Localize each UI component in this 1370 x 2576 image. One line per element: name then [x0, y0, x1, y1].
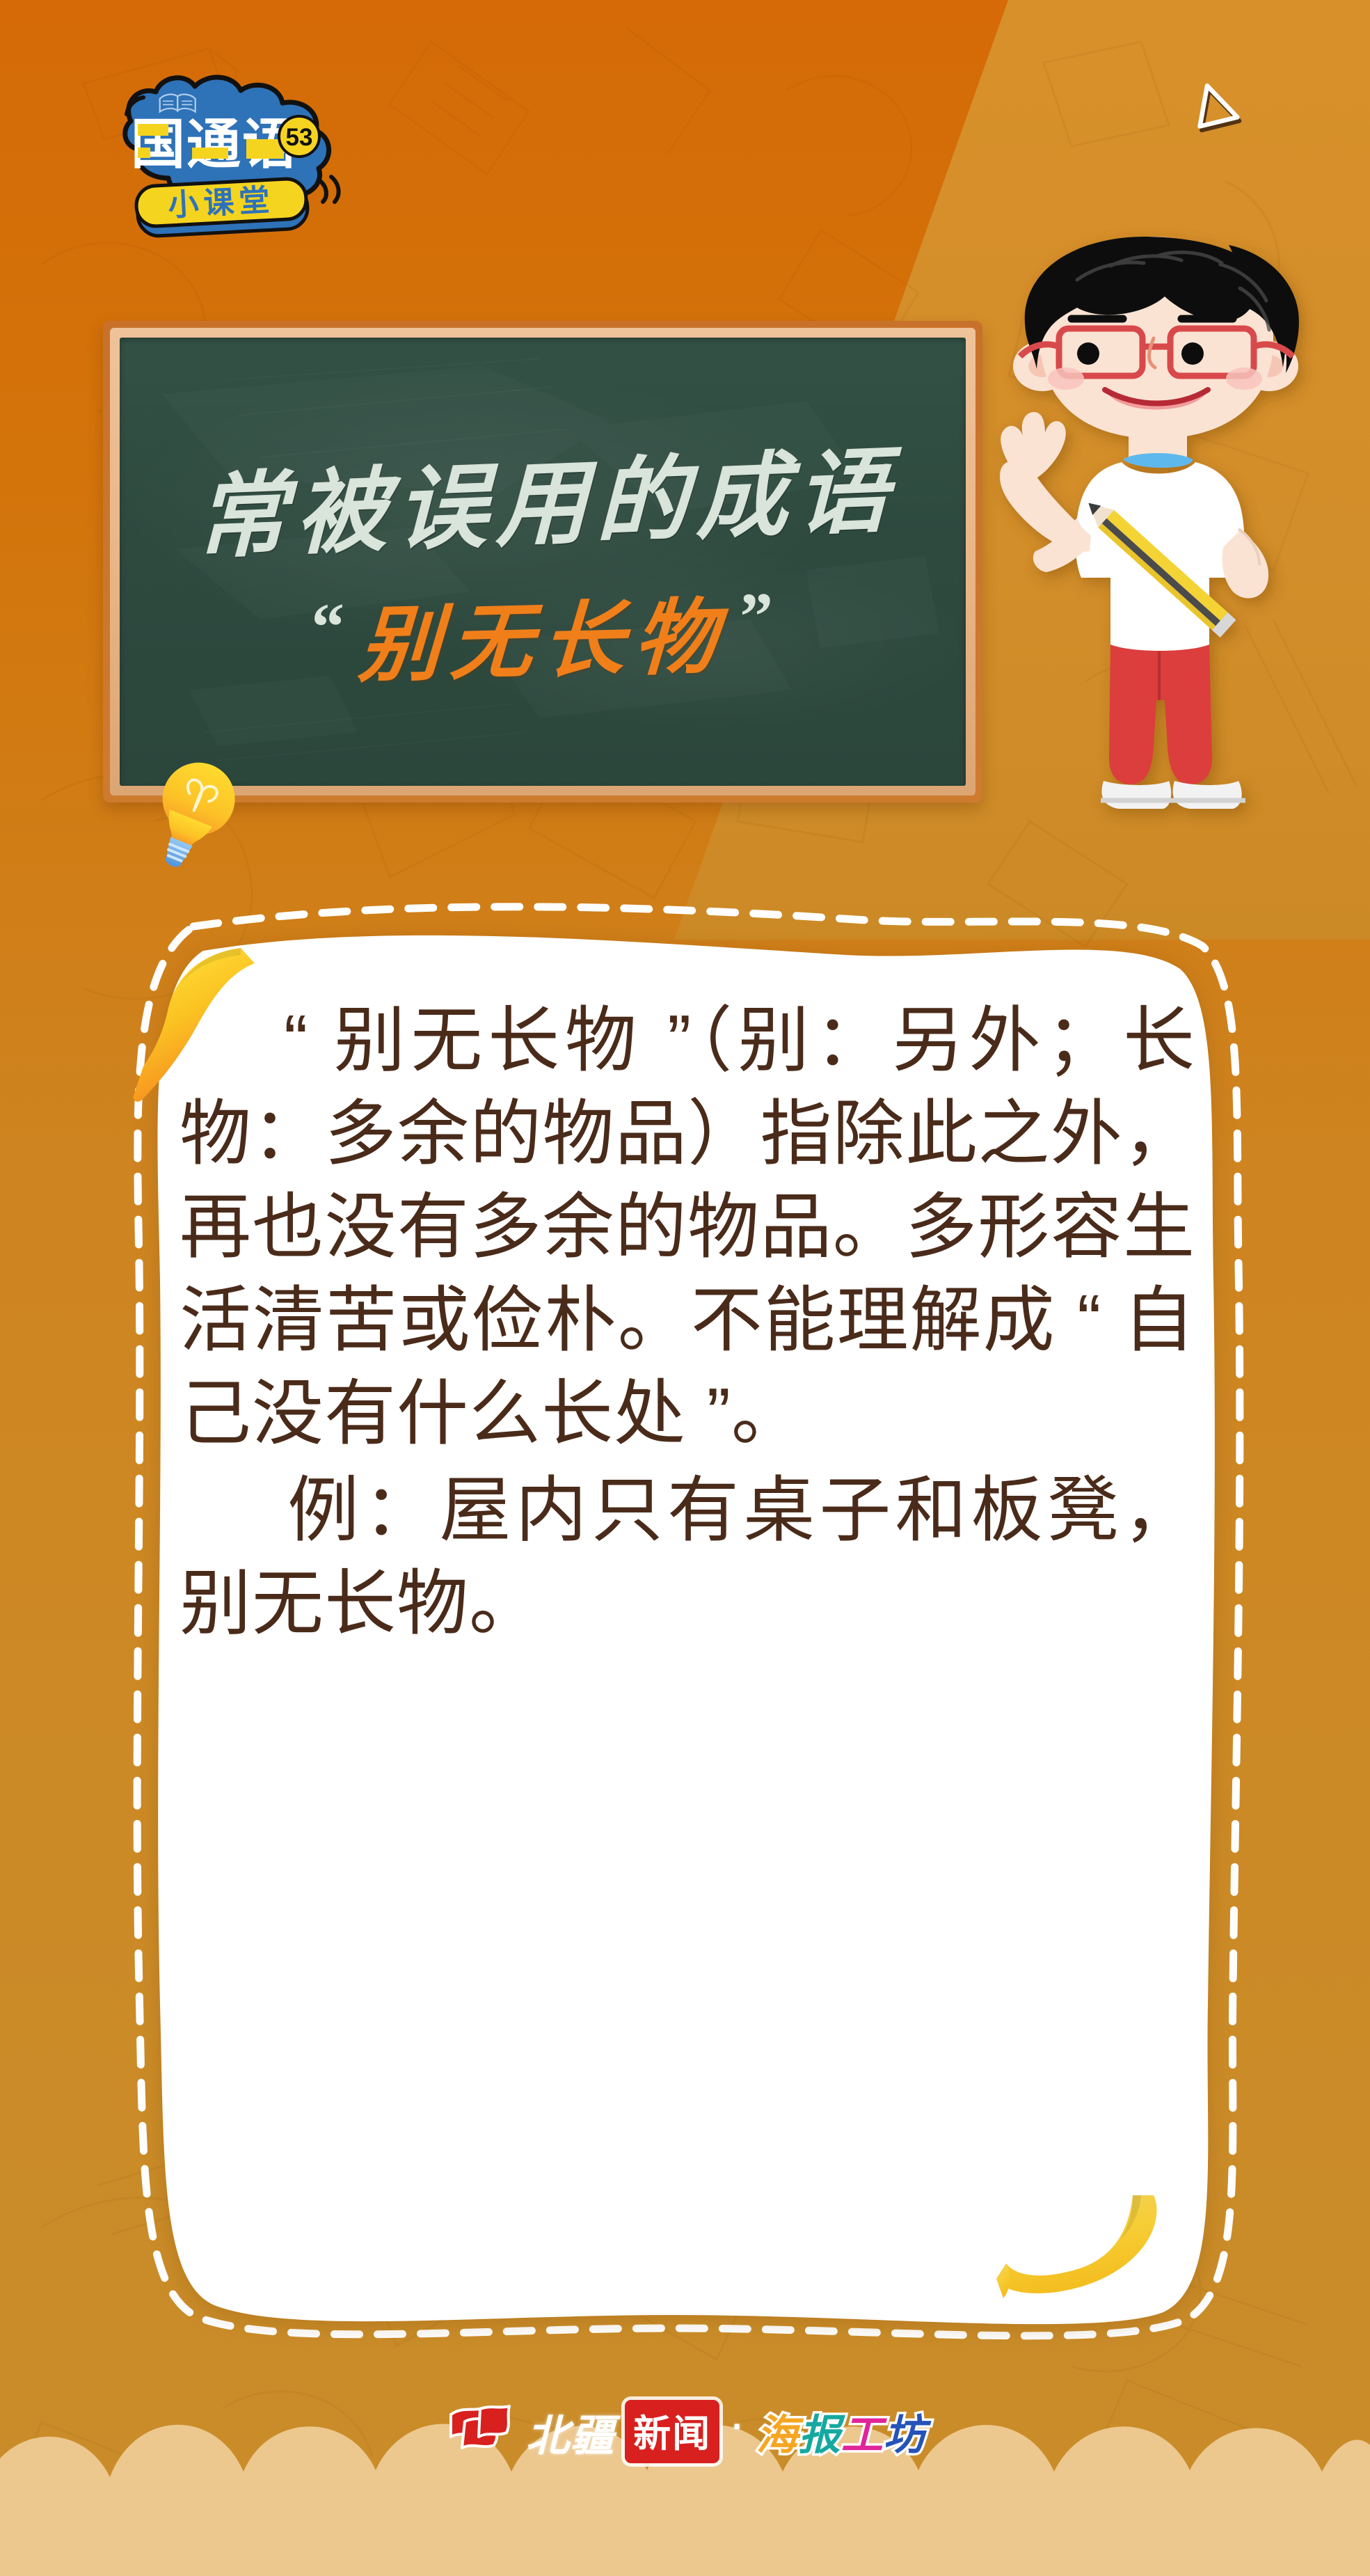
blackboard-text-block: 常被误用的成语 “ 别无长物 ”	[120, 338, 966, 786]
blackboard-frame: 常被误用的成语 “ 别无长物 ”	[110, 328, 975, 796]
definition-text: “ 别无长物 ”（别：另外；长物：多余的物品）指除此之外，再也没有多余的物品。多…	[180, 1000, 1195, 1453]
studio-char-3: 工	[841, 2412, 884, 2458]
program-logo[interactable]: 国通语 53 小课堂	[97, 72, 390, 246]
poster-root: 国通语 53 小课堂	[0, 0, 1370, 2576]
card-text-body: “ 别无长物 ”（别：另外；长物：多余的物品）指除此之外，再也没有多余的物品。多…	[180, 994, 1195, 1650]
play-triangle-icon	[1193, 84, 1245, 138]
brand-news-label: 新闻	[625, 2400, 719, 2463]
beijiang-flag-icon	[444, 2402, 516, 2462]
episode-badge: 53	[279, 116, 319, 157]
episode-badge-label: 53	[286, 124, 313, 151]
blackboard-idiom-line: “ 别无长物 ”	[305, 569, 781, 700]
brand-studio-label: 海报工坊	[756, 2401, 926, 2462]
brand-separator: ·	[729, 2406, 747, 2447]
blackboard-idiom: 别无长物	[348, 569, 738, 698]
logo-subtitle-ribbon: 小课堂	[136, 178, 309, 237]
blackboard-heading: 常被误用的成语	[195, 417, 898, 577]
studio-char-2: 报	[799, 2412, 841, 2458]
studio-char-4: 坊	[884, 2412, 926, 2458]
example-text: 例：屋内只有桌子和板凳，别无长物。	[180, 1470, 1195, 1643]
ribbon-corner-bottom-right	[953, 2194, 1183, 2361]
quote-close-mark: ”	[734, 595, 779, 636]
brand-primary-label: 北疆	[526, 2401, 615, 2463]
logo-subtitle: 小课堂	[167, 183, 275, 223]
blackboard-surface: 常被误用的成语 “ 别无长物 ”	[120, 338, 966, 786]
example-paragraph: 例：屋内只有桌子和板凳，别无长物。	[180, 1464, 1195, 1650]
studio-char-1: 海	[756, 2412, 799, 2458]
quote-open-mark: “	[305, 606, 351, 647]
content-card: “ 别无长物 ”（别：另外；长物：多余的物品）指除此之外，再也没有多余的物品。多…	[136, 919, 1238, 2339]
definition-paragraph: “ 别无长物 ”（别：另外；长物：多余的物品）指除此之外，再也没有多余的物品。多…	[180, 994, 1195, 1460]
ribbon-corner-top-left	[104, 930, 271, 1104]
footer-brand[interactable]: 北疆 新闻 · 海报工坊	[0, 2400, 1370, 2463]
blackboard: 常被误用的成语 “ 别无长物 ”	[103, 321, 982, 803]
boy-student-avatar	[999, 230, 1347, 912]
